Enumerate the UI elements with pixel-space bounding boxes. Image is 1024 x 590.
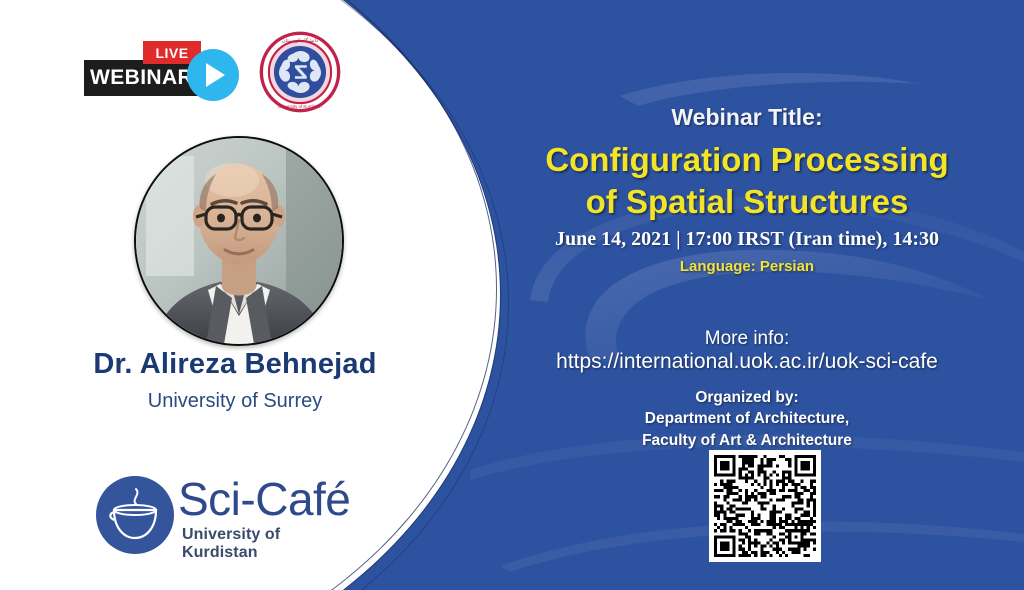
webinar-title-label: Webinar Title: [470,104,1024,131]
live-webinar-badge: WEBINAR LIVE [84,38,254,100]
university-seal-icon: دانشگاه كردستان University of Kurdistan [258,30,342,114]
speaker-portrait [134,136,344,346]
sci-cafe-logo: Sci-Café University of Kurdistan [96,472,356,558]
svg-text:دانشگاه كردستان: دانشگاه كردستان [282,37,318,44]
speaker-name: Dr. Alireza Behnejad [0,348,470,381]
speaker-affiliation: University of Surrey [0,390,470,413]
webinar-language: Language: Persian [470,258,1024,275]
webinar-datetime: June 14, 2021 | 17:00 IRST (Iran time), … [470,228,1024,251]
sci-cafe-wordmark: Sci-Café [178,476,350,522]
qr-code-svg [714,455,816,557]
organized-by-block: Organized by: Department of Architecture… [470,387,1024,451]
talk-title-line1: Configuration Processing [470,139,1024,181]
talk-title-line2: of Spatial Structures [470,181,1024,223]
live-label: LIVE [155,45,188,61]
play-triangle [206,63,225,87]
more-info-label: More info: [470,328,1024,350]
sci-cafe-subtitle: University of Kurdistan [182,526,356,562]
play-icon [187,49,239,101]
webinar-label: WEBINAR [84,66,193,90]
svg-text:University of Kurdistan: University of Kurdistan [278,104,322,109]
webinar-poster: WEBINAR LIVE دانشگاه كردستان University … [0,0,1024,590]
talk-title: Configuration Processing of Spatial Stru… [470,139,1024,223]
organizer-faculty: Faculty of Art & Architecture [470,430,1024,451]
organized-by-label: Organized by: [470,387,1024,408]
qr-code[interactable] [709,450,821,562]
more-info-url[interactable]: https://international.uok.ac.ir/uok-sci-… [470,350,1024,374]
organizer-department: Department of Architecture, [470,408,1024,429]
coffee-cup-icon [96,476,174,554]
